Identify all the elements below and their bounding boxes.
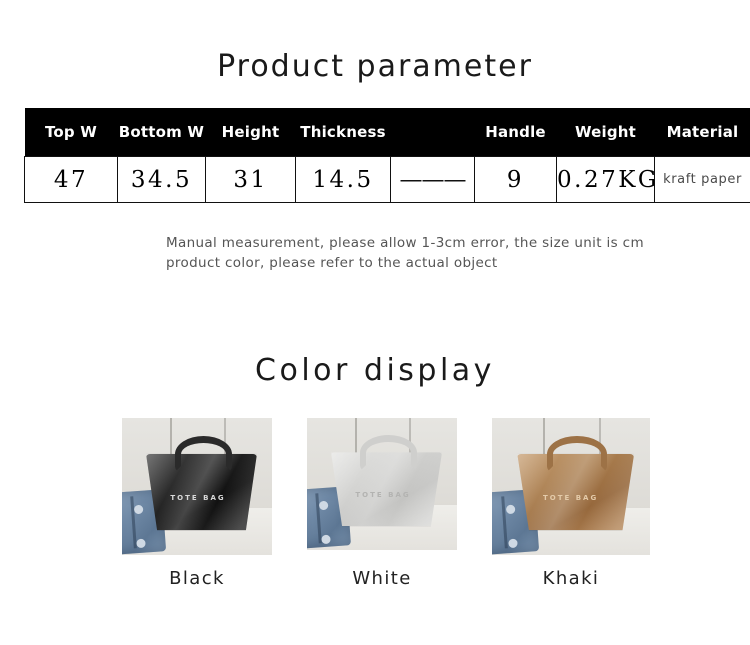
color-card-black[interactable]: TOTE BAG Black — [122, 418, 272, 593]
table-cell-thickness: 14.5 — [296, 157, 391, 203]
bag-logo-text: TOTE BAG — [355, 491, 410, 499]
table-cell-height: 31 — [206, 157, 296, 203]
table-cell-material: kraft paper — [655, 157, 750, 203]
bag-handle — [175, 436, 232, 472]
table-data-row: 47 34.5 31 14.5 ——— 9 0.27KG kraft paper — [25, 157, 750, 203]
product-photo-khaki[interactable]: TOTE BAG — [492, 418, 650, 555]
table-header-material: Material — [655, 108, 750, 157]
table-header-thickness: Thickness — [296, 108, 391, 157]
product-photo-black[interactable]: TOTE BAG — [122, 418, 272, 555]
table-cell-bottom-w: 34.5 — [118, 157, 206, 203]
color-label-white: White — [307, 568, 457, 589]
color-card-white[interactable]: TOTE BAG White — [307, 418, 457, 593]
table-cell-handle: 9 — [475, 157, 557, 203]
table-header-row: Top W Bottom W Height Thickness Handle W… — [25, 108, 750, 157]
color-label-black: Black — [122, 568, 272, 589]
table-cell-blank: ——— — [391, 157, 475, 203]
table-header-handle: Handle — [475, 108, 557, 157]
table-header-bottom-w: Bottom W — [118, 108, 206, 157]
bag-handle — [360, 435, 417, 470]
bag-logo-text: TOTE BAG — [170, 494, 225, 502]
table-cell-weight: 0.27KG — [557, 157, 655, 203]
measurement-note-line-2: product color, please refer to the actua… — [166, 253, 746, 273]
bag-logo-text: TOTE BAG — [543, 494, 598, 502]
table-header-blank — [391, 108, 475, 157]
table-header-height: Height — [206, 108, 296, 157]
product-parameter-table: Top W Bottom W Height Thickness Handle W… — [24, 108, 750, 203]
bag-handle — [547, 436, 606, 472]
page-title-product-parameter: Product parameter — [0, 48, 750, 86]
page-title-color-display: Color display — [0, 352, 750, 390]
color-card-khaki[interactable]: TOTE BAG Khaki — [492, 418, 650, 593]
product-detail-page: Product parameter Top W Bottom W Height … — [0, 0, 750, 645]
measurement-note-line-1: Manual measurement, please allow 1-3cm e… — [166, 233, 746, 253]
table-header-weight: Weight — [557, 108, 655, 157]
color-label-khaki: Khaki — [492, 568, 650, 589]
table-header-top-w: Top W — [25, 108, 118, 157]
measurement-note: Manual measurement, please allow 1-3cm e… — [166, 233, 746, 273]
table-cell-top-w: 47 — [25, 157, 118, 203]
product-photo-white[interactable]: TOTE BAG — [307, 418, 457, 550]
